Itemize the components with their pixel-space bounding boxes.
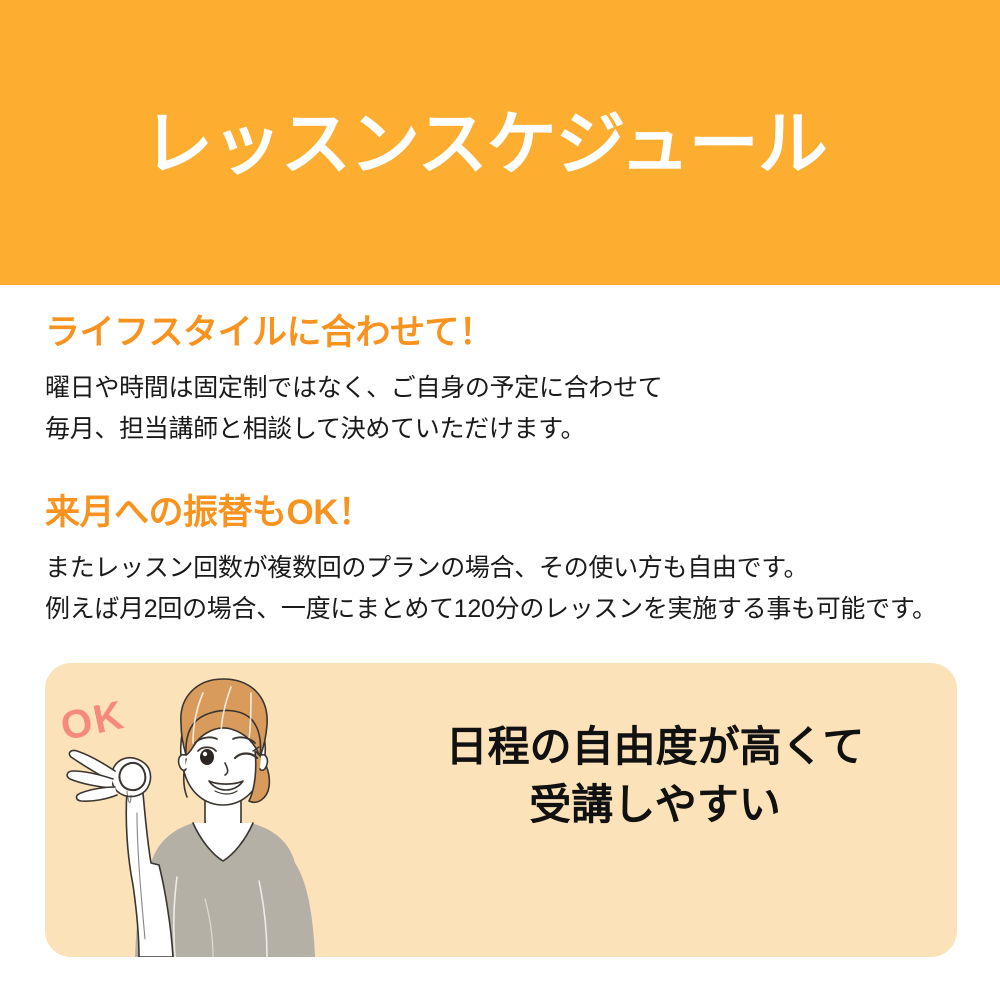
section-body-lifestyle: 曜日や時間は固定制ではなく、ご自身の予定に合わせて 毎月、担当講師と相談して決め… xyxy=(45,368,663,450)
body-line: 毎月、担当講師と相談して決めていただけます。 xyxy=(45,409,663,450)
section-lifestyle: ライフスタイルに合わせて！ 曜日や時間は固定制ではなく、ご自身の予定に合わせて … xyxy=(45,310,663,450)
header-banner: レッスンスケジュール xyxy=(0,0,1000,285)
card-caption: 日程の自由度が高くて 受講しやすい xyxy=(375,718,935,834)
card-caption-line: 受講しやすい xyxy=(375,776,935,834)
highlight-card: OK 日程の自由度が高くて 受講しやすい xyxy=(45,663,957,957)
body-line: 曜日や時間は固定制ではなく、ご自身の予定に合わせて xyxy=(45,368,663,409)
section-heading-lifestyle: ライフスタイルに合わせて！ xyxy=(45,310,663,356)
body-line: またレッスン回数が複数回のプランの場合、その使い方も自由です。 xyxy=(45,548,937,589)
section-carryover: 来月への振替もOK！ またレッスン回数が複数回のプランの場合、その使い方も自由で… xyxy=(45,490,937,630)
section-body-carryover: またレッスン回数が複数回のプランの場合、その使い方も自由です。 例えば月2回の場… xyxy=(45,548,937,630)
card-caption-line: 日程の自由度が高くて xyxy=(375,718,935,776)
body-line: 例えば月2回の場合、一度にまとめて120分のレッスンを実施する事も可能です。 xyxy=(45,589,937,630)
page-title: レッスンスケジュール xyxy=(143,104,827,184)
section-heading-carryover: 来月への振替もOK！ xyxy=(45,490,937,536)
